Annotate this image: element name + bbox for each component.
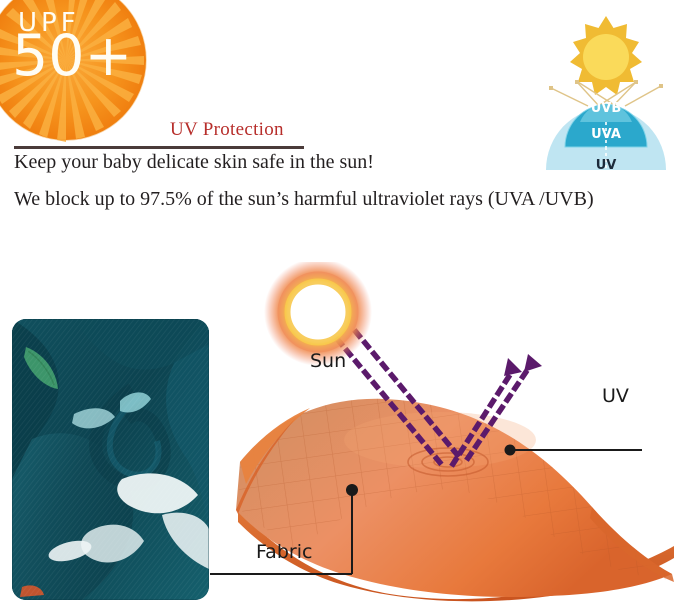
atmosphere-uv-icon: UVB UVA UV <box>533 2 679 170</box>
atmosphere-label-uva: UVA <box>591 127 621 142</box>
section-heading: UV Protection <box>170 119 284 141</box>
atmosphere-label-uvb: UVB <box>591 101 622 116</box>
claim-text: We block up to 97.5% of the sun’s harmfu… <box>14 188 594 211</box>
fabric-photo <box>12 319 209 600</box>
infographic-page: UPF 50+ <box>0 0 679 609</box>
badge-sunburst-rays <box>0 0 146 142</box>
upf-badge: UPF 50+ <box>0 0 148 142</box>
tagline-text: Keep your baby delicate skin safe in the… <box>14 151 374 174</box>
diagram-label-fabric: Fabric <box>256 541 312 563</box>
heading-divider <box>14 146 304 149</box>
diagram-label-uv: UV <box>602 385 629 407</box>
uv-anchor-dot <box>505 445 516 456</box>
fabric-anchor-dot <box>346 484 358 496</box>
diagram-label-sun: Sun <box>310 350 346 372</box>
atmosphere-label-uv: UV <box>596 158 617 170</box>
